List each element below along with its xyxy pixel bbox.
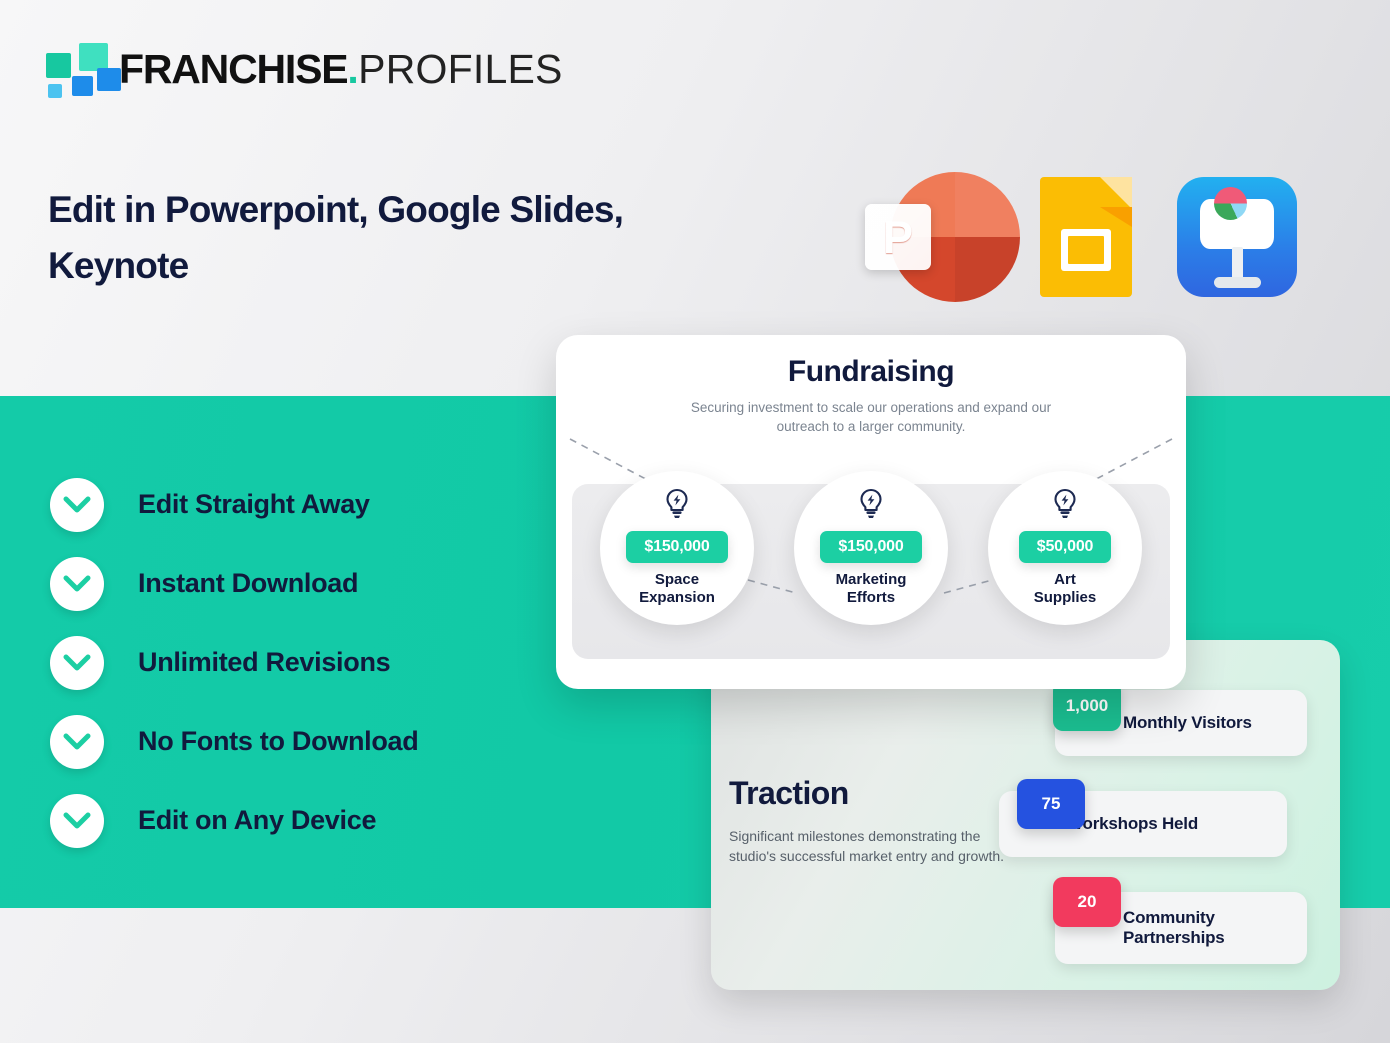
list-item[interactable]: Instant Download [50, 544, 418, 623]
amount-badge: $50,000 [1019, 531, 1111, 563]
list-item-label: No Fonts to Download [138, 726, 418, 757]
lightbulb-bolt-icon [664, 488, 690, 525]
fundraising-subtitle: Securing investment to scale our operati… [671, 398, 1071, 436]
traction-title: Traction [729, 775, 1019, 812]
brand-dot: . [347, 46, 358, 92]
list-item[interactable]: Unlimited Revisions [50, 623, 418, 702]
fundraising-items: $150,000 Space Expansion $150,000 Market… [556, 457, 1186, 657]
powerpoint-letter: P [883, 215, 913, 260]
fundraising-item: $150,000 Space Expansion [600, 471, 754, 625]
feature-list: Edit Straight Away Instant Download Unli… [50, 465, 418, 860]
squares-logo-icon [45, 43, 107, 95]
fundraising-item: $50,000 Art Supplies [988, 471, 1142, 625]
brand-logo[interactable]: FRANCHISE.PROFILES [45, 43, 563, 95]
traction-text-block: Traction Significant milestones demonstr… [729, 775, 1019, 867]
amount-badge: $150,000 [820, 531, 921, 563]
brand-logo-text: FRANCHISE.PROFILES [119, 49, 563, 90]
brand-name-bold: FRANCHISE [119, 46, 347, 92]
list-item[interactable]: Edit on Any Device [50, 781, 418, 860]
lightbulb-bolt-icon [1052, 488, 1078, 525]
chevron-down-icon [50, 715, 104, 769]
lightbulb-bolt-icon [858, 488, 884, 525]
list-item-label: Instant Download [138, 568, 358, 599]
powerpoint-icon: P [865, 172, 995, 302]
list-item-label: Edit Straight Away [138, 489, 370, 520]
table-row: Workshops Held 75 [999, 791, 1287, 857]
list-item[interactable]: No Fonts to Download [50, 702, 418, 781]
fundraising-item-label: Space Expansion [639, 571, 715, 607]
amount-badge: $150,000 [626, 531, 727, 563]
fundraising-item: $150,000 Marketing Efforts [794, 471, 948, 625]
table-row: Community Partnerships 20 [1055, 892, 1307, 964]
stat-label: Monthly Visitors [1123, 713, 1252, 733]
traction-subtitle: Significant milestones demonstrating the… [729, 826, 1019, 867]
app-icons-row: P [865, 172, 1297, 302]
chevron-down-icon [50, 557, 104, 611]
list-item-label: Unlimited Revisions [138, 647, 390, 678]
table-row: Monthly Visitors 1,000 [1055, 690, 1307, 756]
fundraising-item-label: Art Supplies [1034, 571, 1097, 607]
keynote-icon [1177, 177, 1297, 297]
chevron-down-icon [50, 794, 104, 848]
list-item-label: Edit on Any Device [138, 805, 376, 836]
chevron-down-icon [50, 636, 104, 690]
fundraising-title: Fundraising [556, 355, 1186, 389]
status-badge: 20 [1053, 877, 1121, 927]
fundraising-item-label: Marketing Efforts [836, 571, 907, 607]
fundraising-card: Fundraising Securing investment to scale… [556, 335, 1186, 689]
chevron-down-icon [50, 478, 104, 532]
google-slides-icon [1040, 177, 1132, 297]
list-item[interactable]: Edit Straight Away [50, 465, 418, 544]
traction-card: Traction Significant milestones demonstr… [711, 640, 1340, 990]
status-badge: 75 [1017, 779, 1085, 829]
brand-name-light: PROFILES [358, 46, 562, 92]
stat-label: Workshops Held [1067, 814, 1198, 834]
stat-label: Community Partnerships [1123, 908, 1225, 949]
page-headline: Edit in Powerpoint, Google Slides, Keyno… [48, 182, 728, 293]
